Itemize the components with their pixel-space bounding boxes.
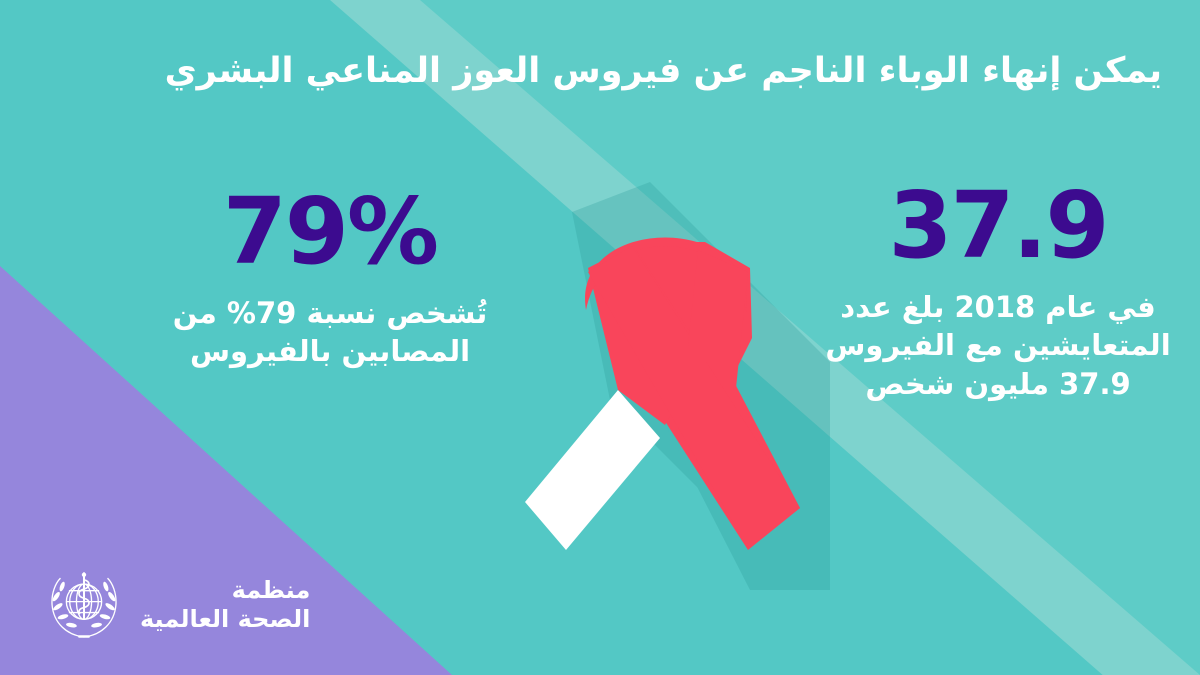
who-logo: منظمة الصحة العالمية (42, 563, 310, 647)
stat-number-people-living-with-hiv: 37.9 (818, 180, 1178, 272)
infographic-poster: يمكن إنهاء الوباء الناجم عن فيروس العوز … (0, 0, 1200, 675)
who-logo-text: منظمة الصحة العالمية (140, 576, 310, 634)
stat-caption-diagnosed-share: تُشخص نسبة 79% من المصابين بالفيروس (150, 294, 510, 371)
stat-block-diagnosed-share: 79% تُشخص نسبة 79% من المصابين بالفيروس (150, 186, 510, 371)
stat-caption-people-living-with-hiv: في عام 2018 بلغ عدد المتعايشين مع الفيرو… (818, 288, 1178, 403)
who-emblem-icon (42, 563, 126, 647)
aids-ribbon-icon (500, 150, 830, 590)
stat-block-people-living-with-hiv: 37.9 في عام 2018 بلغ عدد المتعايشين مع ا… (818, 180, 1178, 403)
page-title: يمكن إنهاء الوباء الناجم عن فيروس العوز … (38, 48, 1162, 95)
stat-number-diagnosed-share: 79% (150, 186, 510, 278)
